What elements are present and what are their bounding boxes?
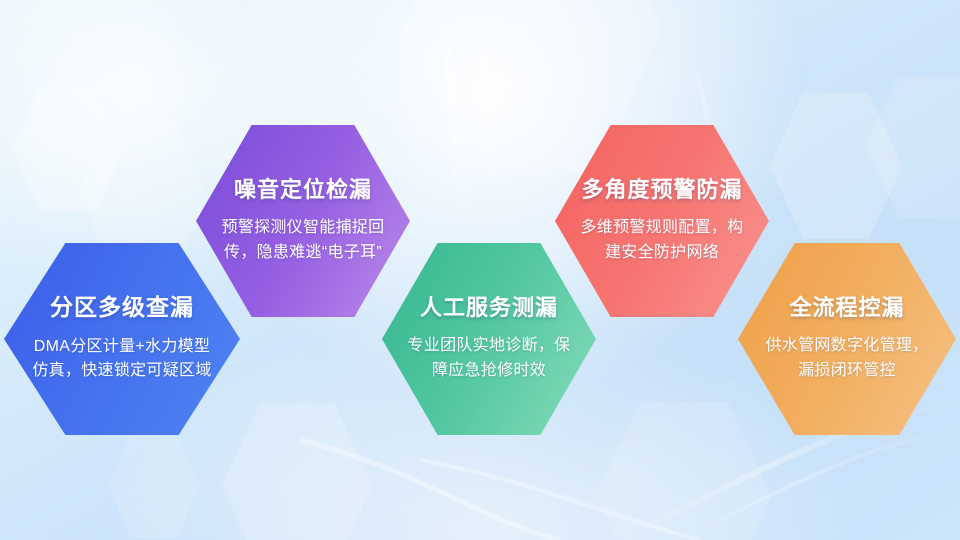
card-description: 预警探测仪智能捕捉回传，隐患难逃“电子耳” [217, 216, 388, 266]
card-title: 人工服务测漏 [420, 295, 558, 321]
background-hexagon-4 [222, 400, 372, 540]
card-title: 全流程控漏 [789, 295, 904, 321]
card-content: 多角度预警防漏 多维预警规则配置，构建安全防护网络 [576, 177, 747, 266]
card-content: 全流程控漏 供水管网数字化管理，漏损闭环管控 [758, 295, 937, 384]
card-content: 人工服务测漏 专业团队实地诊断，保障应急抢修时效 [403, 295, 574, 384]
background-hexagon-1 [12, 84, 124, 214]
background-hexagon-7 [596, 398, 772, 540]
slide-canvas: 分区多级查漏 DMA分区计量+水力模型仿真，快速锁定可疑区域 噪音定位检漏 预警… [0, 0, 960, 540]
feature-card-multi-angle-alert-prevention[interactable]: 多角度预警防漏 多维预警规则配置，构建安全防护网络 [555, 125, 769, 317]
background-hexagon-3 [108, 432, 200, 540]
card-description: DMA分区计量+水力模型仿真，快速锁定可疑区域 [30, 335, 214, 385]
card-description: 供水管网数字化管理，漏损闭环管控 [758, 334, 937, 384]
feature-card-full-process-control[interactable]: 全流程控漏 供水管网数字化管理，漏损闭环管控 [738, 243, 956, 435]
card-title: 噪音定位检漏 [234, 177, 372, 203]
background-hexagon-6 [866, 74, 960, 220]
card-description: 多维预警规则配置，构建安全防护网络 [576, 216, 747, 266]
card-content: 分区多级查漏 DMA分区计量+水力模型仿真，快速锁定可疑区域 [30, 294, 214, 384]
card-content: 噪音定位检漏 预警探测仪智能捕捉回传，隐患难逃“电子耳” [217, 177, 388, 266]
card-title: 分区多级查漏 [50, 294, 194, 322]
card-title: 多角度预警防漏 [581, 177, 742, 203]
background-hexagon-5 [770, 90, 902, 242]
feature-card-partition-leak-detection[interactable]: 分区多级查漏 DMA分区计量+水力模型仿真，快速锁定可疑区域 [4, 243, 240, 435]
feature-card-noise-location-leak-detection[interactable]: 噪音定位检漏 预警探测仪智能捕捉回传，隐患难逃“电子耳” [196, 125, 410, 317]
card-description: 专业团队实地诊断，保障应急抢修时效 [403, 334, 574, 384]
feature-card-manual-service-leak-detection[interactable]: 人工服务测漏 专业团队实地诊断，保障应急抢修时效 [382, 243, 596, 435]
